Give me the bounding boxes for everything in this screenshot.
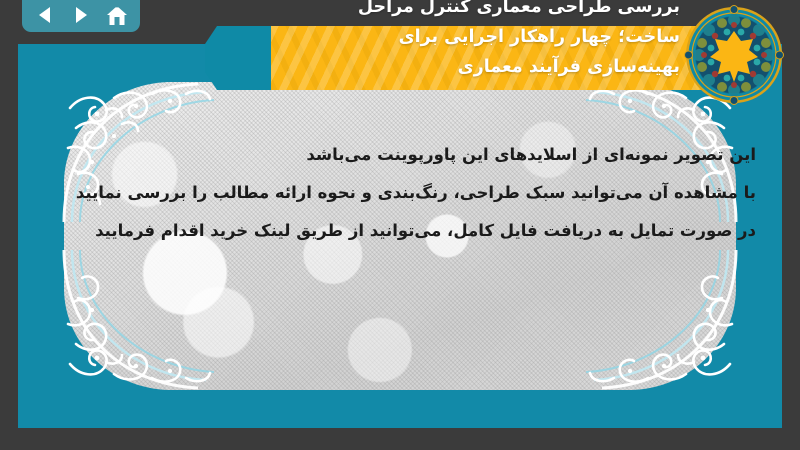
slide-frame: این تصویر نمونه‌ای از اسلایدهای این پاور… xyxy=(18,44,782,428)
body-line-1: این تصویر نمونه‌ای از اسلایدهای این پاور… xyxy=(58,136,756,174)
home-icon xyxy=(106,5,128,26)
slide-navigation-bar xyxy=(22,0,140,32)
banner-yellow-band xyxy=(271,26,725,90)
persian-medallion-ornament xyxy=(684,5,784,105)
body-line-2: با مشاهده آن می‌توانید سبک طراحی، رنگ‌بن… xyxy=(58,174,756,212)
next-slide-button[interactable] xyxy=(68,3,94,27)
body-line-3: در صورت تمایل به دریافت فایل کامل، می‌تو… xyxy=(58,212,756,250)
triangle-left-icon xyxy=(35,5,55,25)
title-banner xyxy=(205,26,725,90)
previous-slide-button[interactable] xyxy=(32,3,58,27)
banner-pennant-icon xyxy=(205,26,273,90)
home-button[interactable] xyxy=(104,3,130,27)
slide-body-text: این تصویر نمونه‌ای از اسلایدهای این پاور… xyxy=(58,136,756,250)
app-window: این تصویر نمونه‌ای از اسلایدهای این پاور… xyxy=(0,0,800,450)
triangle-right-icon xyxy=(71,5,91,25)
